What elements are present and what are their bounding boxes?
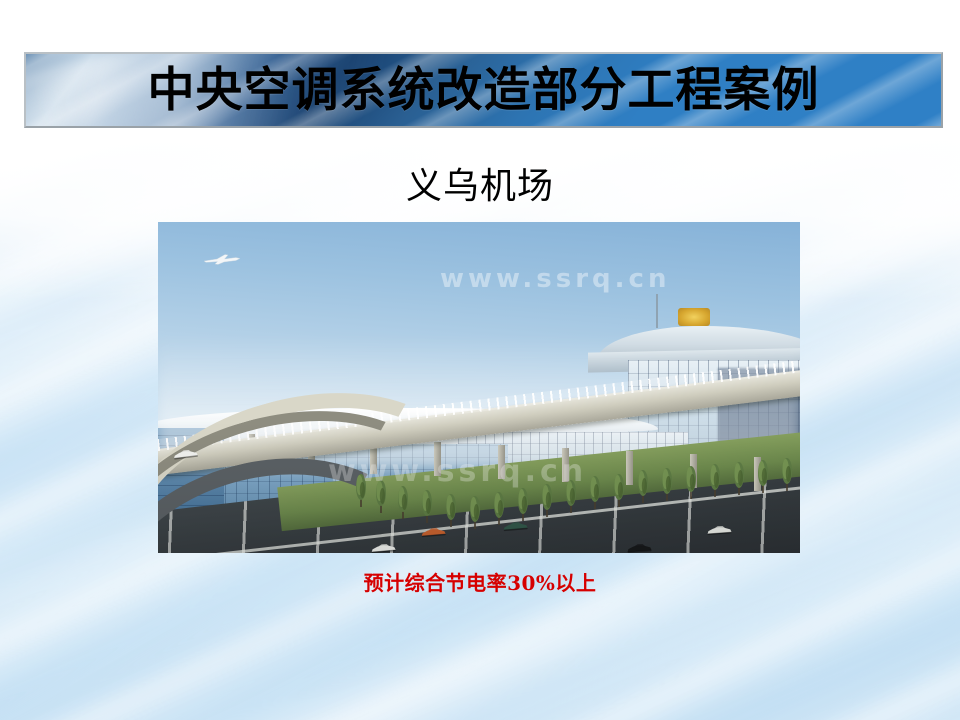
airport-terminal-photo: www.ssrq.cn www.ssrq.cn xyxy=(158,222,800,553)
slide-subtitle: 义乌机场 xyxy=(0,165,960,209)
energy-saving-caption: 预计综合节电率30%以上 xyxy=(0,570,960,596)
presentation-slide: 中央空调系统改造部分工程案例 义乌机场 www.ssrq.cn xyxy=(0,0,960,720)
slide-title-text: 中央空调系统改造部分工程案例 xyxy=(148,67,820,114)
slide-title-banner: 中央空调系统改造部分工程案例 xyxy=(24,52,943,128)
photo-vignette xyxy=(158,222,800,553)
